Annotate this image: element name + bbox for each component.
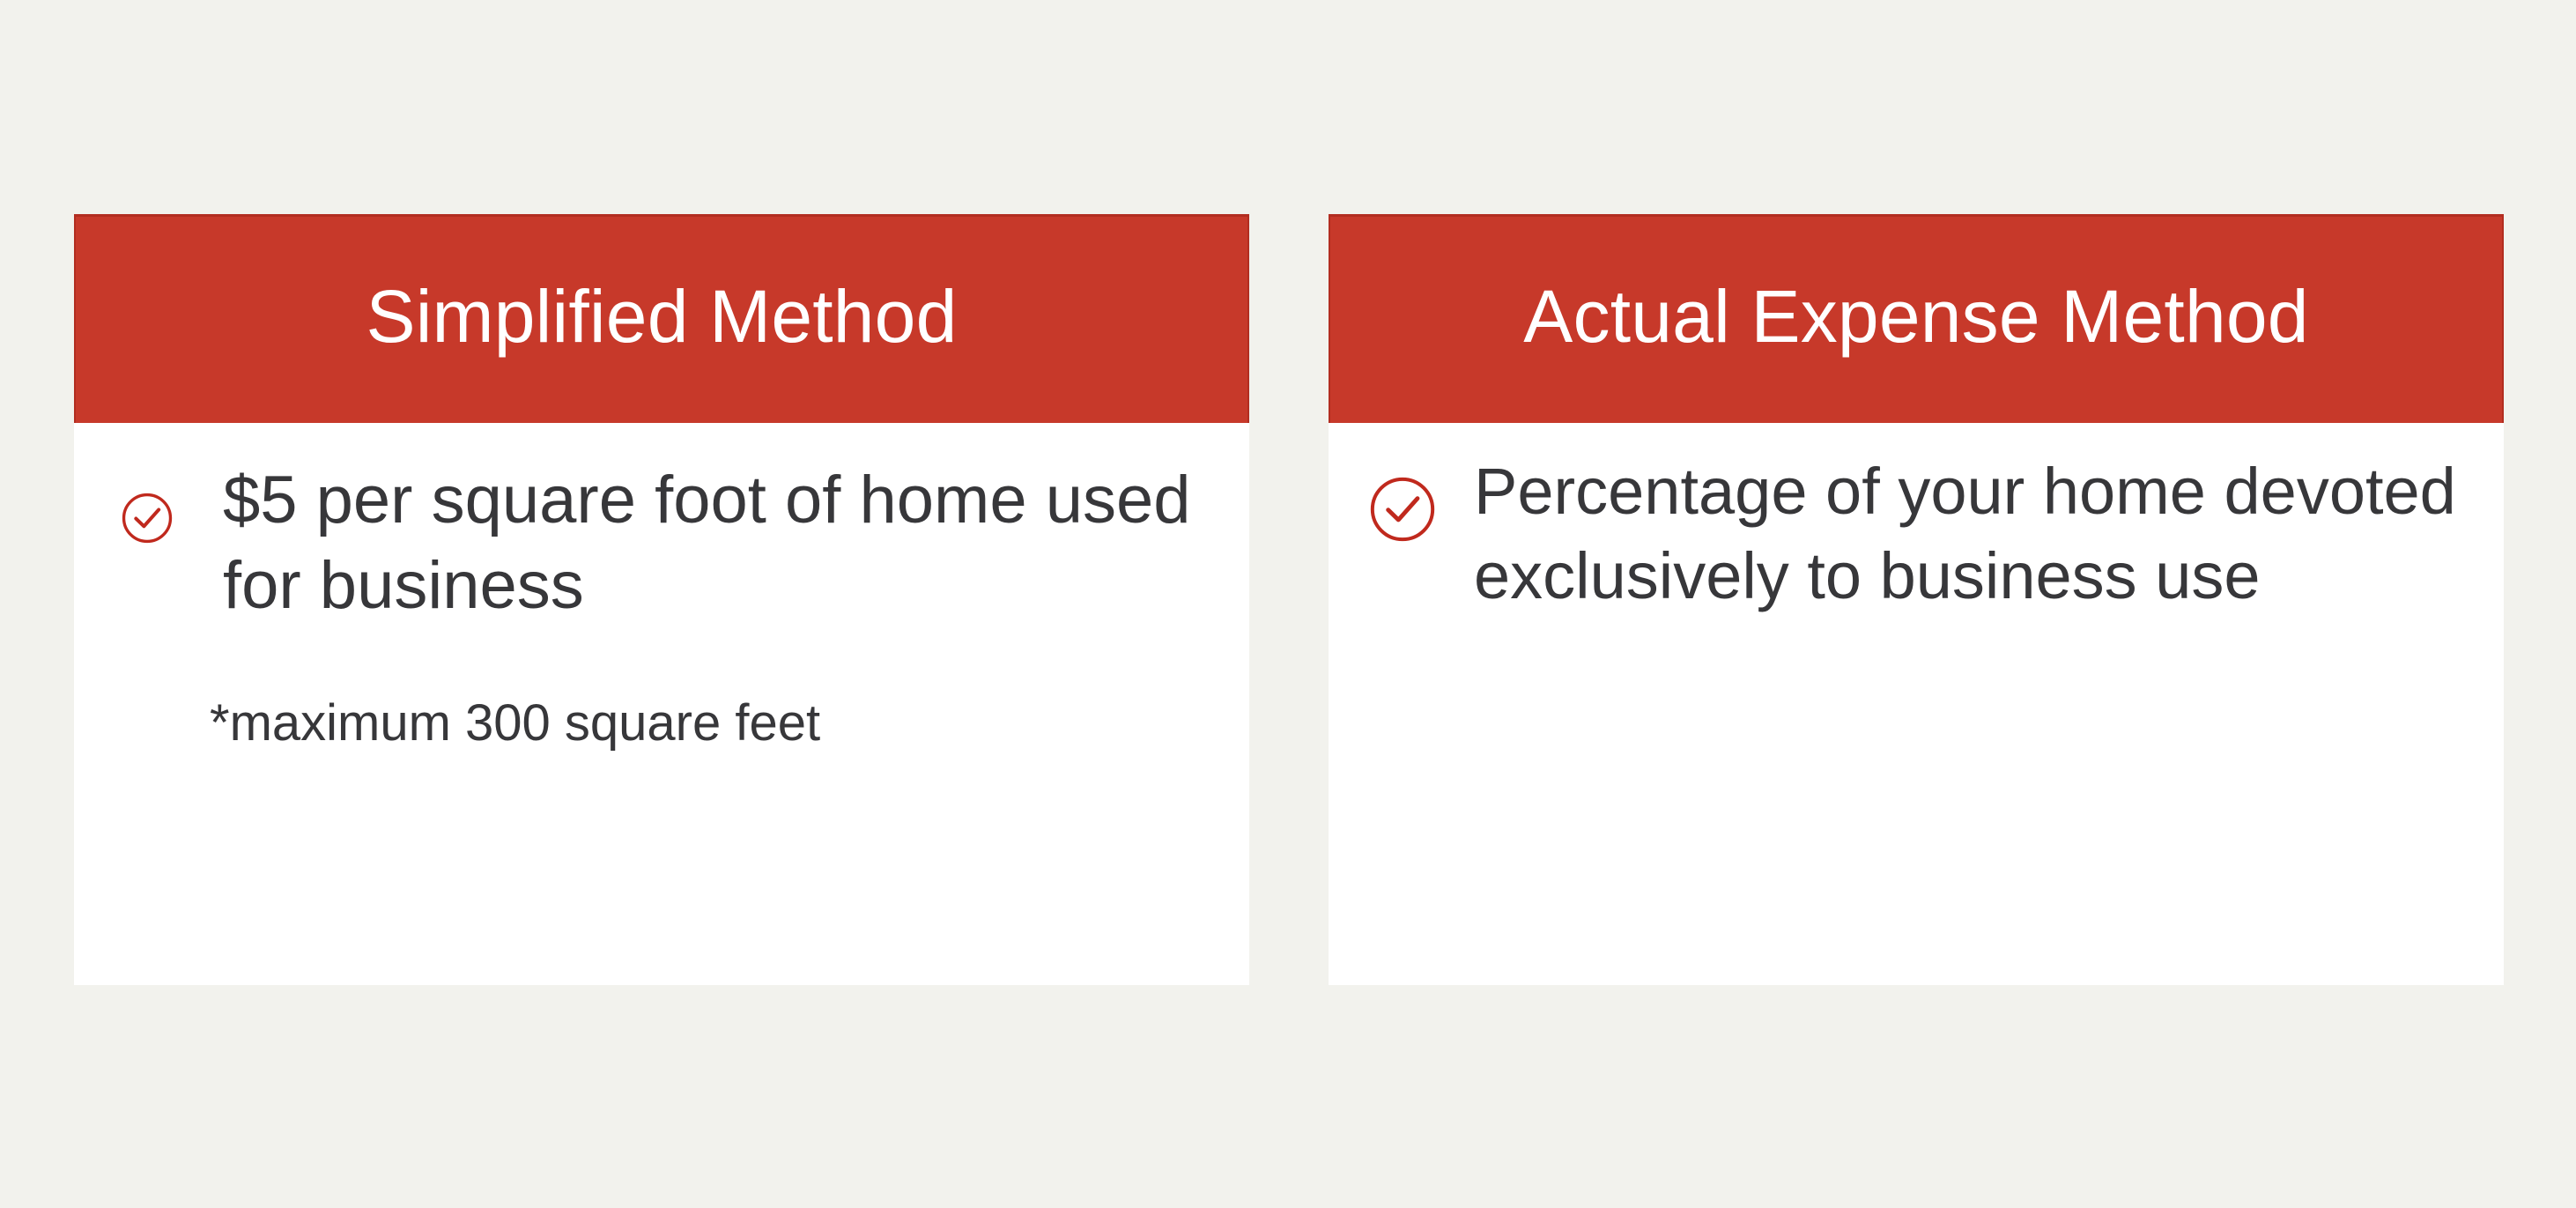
bullet-text-actual-expense-method: Percentage of your home devoted exclusiv…	[1474, 449, 2477, 619]
card-actual-expense-method: Actual Expense Method Percentage of your…	[1329, 214, 2504, 985]
footnote-simplified-method: *maximum 300 square feet	[210, 692, 820, 756]
card-header-simplified-method: Simplified Method	[74, 214, 1249, 423]
card-title-actual-expense-method: Actual Expense Method	[1523, 279, 2308, 353]
bullet-item: $5 per square foot of home used for busi…	[120, 457, 1212, 629]
card-simplified-method: Simplified Method $5 per square foot of …	[74, 214, 1249, 985]
slide-canvas: Simplified Method $5 per square foot of …	[0, 0, 2576, 1208]
check-circle-icon	[120, 491, 174, 545]
bullet-text-column: $5 per square foot of home used for busi…	[223, 457, 1212, 629]
bullet-text-simplified-method: $5 per square foot of home used for busi…	[223, 457, 1212, 629]
check-circle-icon	[1367, 474, 1438, 545]
card-title-simplified-method: Simplified Method	[366, 279, 957, 353]
card-body-actual-expense-method: Percentage of your home devoted exclusiv…	[1329, 423, 2504, 985]
card-header-actual-expense-method: Actual Expense Method	[1329, 214, 2504, 423]
bullet-text-column: Percentage of your home devoted exclusiv…	[1474, 449, 2477, 619]
bullet-item: Percentage of your home devoted exclusiv…	[1367, 449, 2477, 619]
card-body-simplified-method: $5 per square foot of home used for busi…	[74, 423, 1249, 985]
